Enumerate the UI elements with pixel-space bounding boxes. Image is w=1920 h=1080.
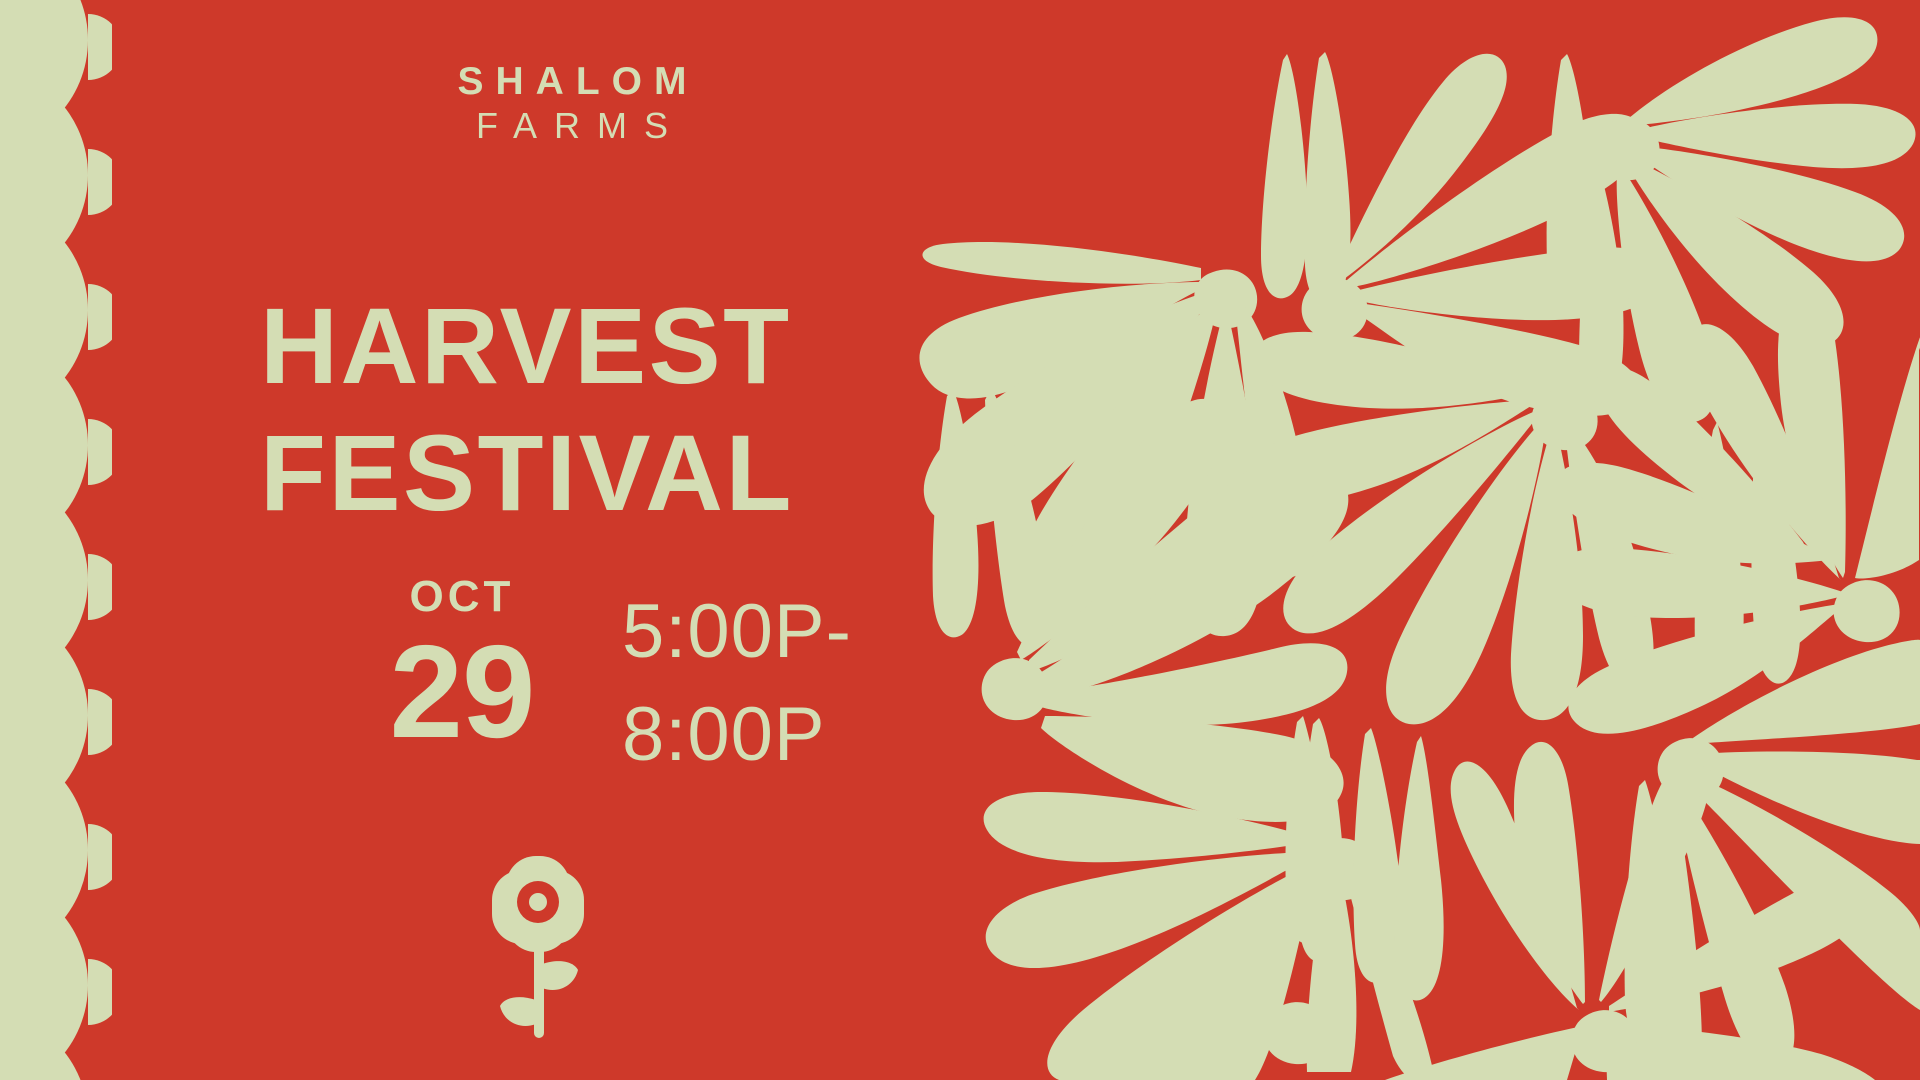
floral-burst-pattern-icon bbox=[895, 0, 1920, 1080]
brand-name-secondary: FARMS bbox=[412, 102, 732, 151]
poster-content-column: SHALOM FARMS HARVEST FESTIVAL OCT 29 5:0… bbox=[112, 0, 895, 1080]
event-day: 29 bbox=[362, 623, 562, 762]
event-time-line-1: 5:00P- bbox=[622, 581, 852, 684]
event-time: 5:00P- 8:00P bbox=[622, 581, 852, 786]
scalloped-border-icon bbox=[0, 0, 112, 1080]
headline-line-2: FESTIVAL bbox=[260, 409, 794, 536]
event-date: OCT 29 bbox=[362, 575, 562, 762]
headline-line-1: HARVEST bbox=[260, 282, 794, 409]
page-title: HARVEST FESTIVAL bbox=[260, 282, 794, 537]
brand-name-primary: SHALOM bbox=[412, 62, 732, 102]
brand-logo: SHALOM FARMS bbox=[412, 62, 732, 150]
event-month: OCT bbox=[362, 575, 562, 619]
flower-icon bbox=[474, 852, 604, 1042]
poster-canvas: SHALOM FARMS HARVEST FESTIVAL OCT 29 5:0… bbox=[0, 0, 1920, 1080]
event-time-line-2: 8:00P bbox=[622, 684, 852, 787]
